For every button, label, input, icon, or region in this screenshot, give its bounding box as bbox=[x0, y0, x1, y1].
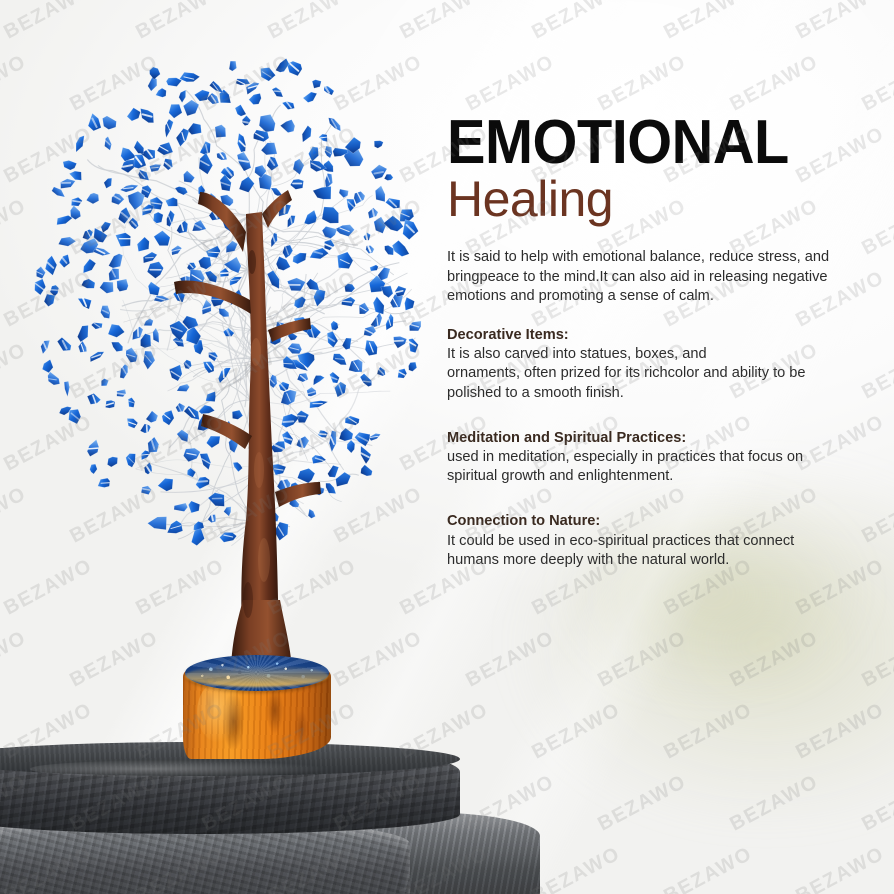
tree-trunk bbox=[0, 0, 450, 700]
watermark-text: BEZAWO bbox=[726, 51, 822, 117]
body-copy: It is said to help with emotional balanc… bbox=[447, 248, 879, 570]
section-2-line-1: humans more deeply with the natural worl… bbox=[447, 551, 879, 570]
section-2-line-0: It could be used in eco-spiritual practi… bbox=[447, 532, 879, 551]
watermark-text: BEZAWO bbox=[660, 0, 756, 44]
section-title-decorative: Decorative Items: bbox=[447, 326, 879, 345]
watermark-text: BEZAWO bbox=[858, 51, 894, 117]
intro-line-1: It is said to help with emotional balanc… bbox=[447, 248, 879, 267]
watermark-text: BEZAWO bbox=[594, 627, 690, 693]
watermark-text: BEZAWO bbox=[594, 771, 690, 837]
trunk-branch-upper-right bbox=[262, 190, 292, 228]
section-1-line-0: used in meditation, especially in practi… bbox=[447, 448, 879, 467]
watermark-text: BEZAWO bbox=[858, 627, 894, 693]
poster-canvas: EMOTIONAL Healing It is said to help wit… bbox=[0, 0, 894, 894]
spacer bbox=[447, 486, 879, 512]
spacer bbox=[447, 403, 879, 429]
watermark-text: BEZAWO bbox=[594, 51, 690, 117]
section-title-meditation: Meditation and Spiritual Practices: bbox=[447, 429, 879, 448]
product-photo bbox=[0, 0, 450, 894]
watermark-text: BEZAWO bbox=[528, 843, 624, 894]
intro-line-3: emotions and promoting a sense of calm. bbox=[447, 287, 879, 306]
wooden-base bbox=[183, 655, 331, 767]
watermark-text: BEZAWO bbox=[528, 0, 624, 44]
spacer bbox=[447, 306, 879, 326]
watermark-text: BEZAWO bbox=[462, 627, 558, 693]
intro-line-2: bringpeace to the mind.It can also aid i… bbox=[447, 268, 879, 287]
watermark-text: BEZAWO bbox=[726, 627, 822, 693]
section-1-line-1: spiritual growth and enlightenment. bbox=[447, 467, 879, 486]
trunk-branch-upper-left bbox=[198, 192, 246, 252]
section-0-line-1: ornaments, often prized for its richcolo… bbox=[447, 364, 879, 383]
trunk-branch-lower-left bbox=[201, 414, 252, 449]
watermark-text: BEZAWO bbox=[858, 771, 894, 837]
watermark-text: BEZAWO bbox=[660, 843, 756, 894]
watermark-text: BEZAWO bbox=[660, 699, 756, 765]
watermark-text: BEZAWO bbox=[792, 0, 888, 44]
watermark-text: BEZAWO bbox=[528, 699, 624, 765]
base-rim-light bbox=[185, 665, 329, 687]
trunk-branch-mid-left bbox=[174, 281, 251, 315]
heading-primary: EMOTIONAL bbox=[447, 116, 849, 169]
section-0-line-0: It is also carved into statues, boxes, a… bbox=[447, 345, 879, 364]
watermark-text: BEZAWO bbox=[792, 843, 888, 894]
text-panel: EMOTIONAL Healing It is said to help wit… bbox=[447, 116, 879, 570]
trunk-branch-lower-right bbox=[275, 482, 321, 507]
section-title-nature: Connection to Nature: bbox=[447, 512, 879, 531]
watermark-text: BEZAWO bbox=[462, 51, 558, 117]
trunk-branch-mid-right bbox=[268, 318, 311, 342]
watermark-text: BEZAWO bbox=[792, 699, 888, 765]
section-0-line-2: polished to a smooth finish. bbox=[447, 384, 879, 403]
watermark-text: BEZAWO bbox=[726, 771, 822, 837]
heading-secondary: Healing bbox=[447, 173, 879, 226]
